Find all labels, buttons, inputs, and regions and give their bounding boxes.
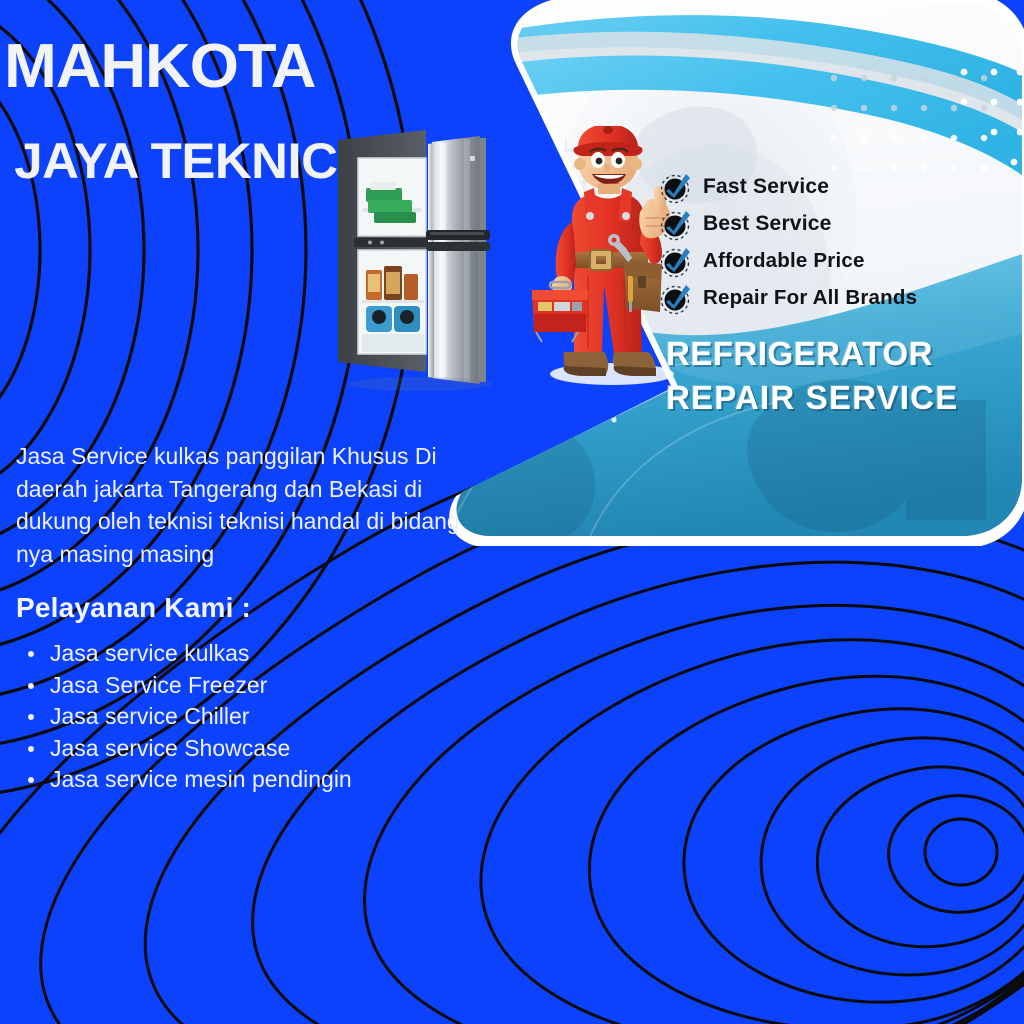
check-circle-icon (660, 281, 694, 315)
feature-label: Best Service (703, 212, 831, 236)
description-text: Jasa Service kulkas panggilan Khusus Di … (16, 440, 486, 571)
list-item: Jasa Service Freezer (46, 670, 352, 702)
feature-row: Best Service (660, 205, 990, 242)
feature-row: Fast Service (660, 168, 990, 205)
feature-label: Affordable Price (703, 249, 865, 273)
list-item: Jasa service mesin pendingin (46, 764, 352, 796)
check-circle-icon (660, 170, 694, 204)
feature-label: Fast Service (703, 175, 829, 199)
services-heading: Pelayanan Kami : (16, 592, 251, 624)
list-item: Jasa service kulkas (46, 638, 352, 670)
feature-list: Fast Service Best Service (660, 168, 990, 316)
feature-label: Repair For All Brands (703, 286, 917, 310)
brand-line-1: MAHKOTA (0, 36, 439, 98)
check-circle-icon (660, 207, 694, 241)
feature-row: Repair For All Brands (660, 279, 990, 316)
card-headline: REFRIGERATOR REPAIR SERVICE (666, 332, 1006, 419)
card-headline-line-2: REPAIR SERVICE (666, 376, 1006, 420)
poster-canvas: MAHKOTA JAYA TEKNIC (0, 0, 1024, 1024)
list-item: Jasa service Showcase (46, 733, 352, 765)
card-headline-line-1: REFRIGERATOR (666, 332, 1006, 376)
brand-block: MAHKOTA JAYA TEKNIC (0, 36, 430, 186)
check-circle-icon (660, 244, 694, 278)
feature-row: Affordable Price (660, 242, 990, 279)
services-list: Jasa service kulkas Jasa Service Freezer… (16, 638, 352, 796)
brand-line-2: JAYA TEKNIC (0, 136, 439, 186)
list-item: Jasa service Chiller (46, 701, 352, 733)
